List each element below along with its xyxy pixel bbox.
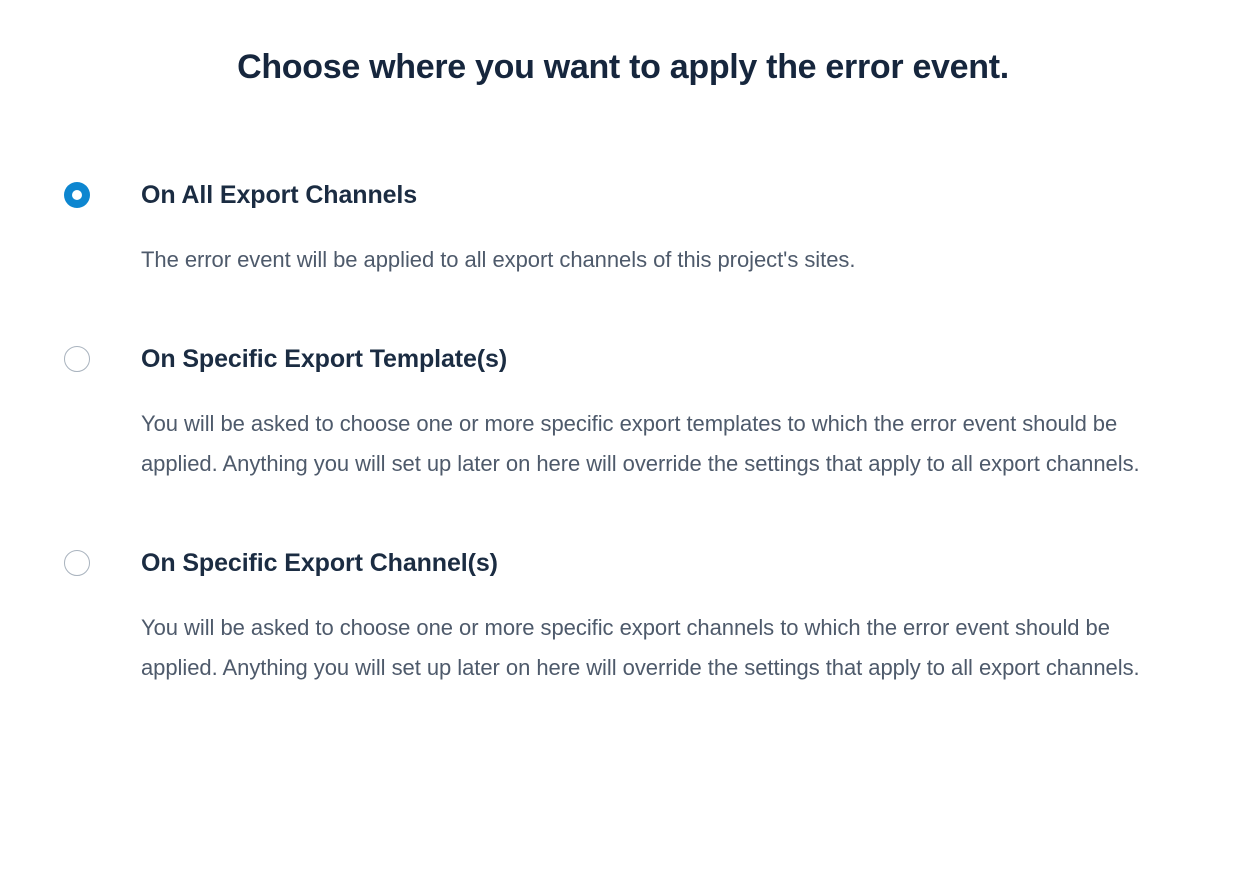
- radio-option-on-all-export-channels[interactable]: On All Export Channels The error event w…: [0, 178, 1246, 280]
- radio-option-description: You will be asked to choose one or more …: [141, 404, 1179, 484]
- radio-option-label[interactable]: On All Export Channels: [141, 178, 1246, 212]
- radio-option-label[interactable]: On Specific Export Template(s): [141, 342, 1246, 376]
- radio-unselected-icon[interactable]: [64, 550, 90, 576]
- radio-option-description: The error event will be applied to all e…: [141, 240, 1131, 280]
- apply-error-event-step: Choose where you want to apply the error…: [0, 0, 1246, 894]
- radio-option-on-specific-export-channels[interactable]: On Specific Export Channel(s) You will b…: [0, 546, 1246, 688]
- radio-option-on-specific-export-templates[interactable]: On Specific Export Template(s) You will …: [0, 342, 1246, 484]
- apply-scope-radio-group: On All Export Channels The error event w…: [0, 178, 1246, 688]
- radio-selected-icon[interactable]: [64, 182, 90, 208]
- radio-option-label[interactable]: On Specific Export Channel(s): [141, 546, 1246, 580]
- radio-option-description: You will be asked to choose one or more …: [141, 608, 1186, 688]
- page-title: Choose where you want to apply the error…: [0, 45, 1246, 89]
- radio-unselected-icon[interactable]: [64, 346, 90, 372]
